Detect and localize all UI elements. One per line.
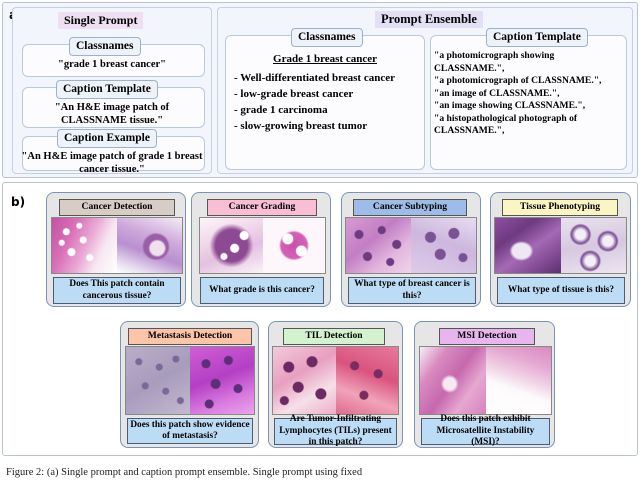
ensemble-classnames-title: Classnames xyxy=(291,28,363,47)
figure-root: a) Single Prompt Classnames "grade 1 bre… xyxy=(0,0,640,482)
task-image-pair-cancer-grading xyxy=(199,217,326,274)
single-caption-template-value: "An H&E image patch of CLASSNAME tissue.… xyxy=(13,101,211,127)
caption-template-item-1: "a photomicrograph of CLASSNAME.", xyxy=(434,75,624,88)
task-badge-cancer-grading: Cancer Grading xyxy=(207,199,317,216)
histology-tile-left xyxy=(273,347,336,414)
task-image-pair-msi-detection xyxy=(419,346,552,415)
task-image-pair-tissue-phenotyping xyxy=(494,217,627,274)
task-badge-til-detection: TIL Detection xyxy=(283,328,385,345)
panel-b: b) Cancer Detection Does This patch cont… xyxy=(2,182,638,456)
single-caption-example-title: Caption Example xyxy=(57,129,157,148)
figure-caption: Figure 2: (a) Single prompt and caption … xyxy=(6,466,634,482)
task-card-tissue-phenotyping[interactable]: Tissue Phenotyping What type of tissue i… xyxy=(490,192,631,307)
caption-template-item-0: "a photomicrograph showing CLASSNAME.", xyxy=(434,50,624,75)
ensemble-caption-template-title: Caption Template xyxy=(486,28,588,47)
single-prompt-container: Single Prompt Classnames "grade 1 breast… xyxy=(12,7,212,174)
classname-item-2: - grade 1 carcinoma xyxy=(234,102,430,118)
task-image-pair-cancer-detection xyxy=(51,217,183,274)
classname-item-1: - low-grade breast cancer xyxy=(234,86,430,102)
histology-tile-right xyxy=(486,347,552,414)
single-caption-template-title: Caption Template xyxy=(56,80,158,99)
ensemble-caption-template-list: "a photomicrograph showing CLASSNAME.", … xyxy=(434,50,624,138)
caption-template-item-2: "an image of CLASSNAME.", xyxy=(434,88,624,101)
histology-tile-left xyxy=(200,218,263,273)
histology-tile-left xyxy=(126,347,190,414)
classname-item-3: - slow-growing breast tumor xyxy=(234,118,430,134)
task-card-msi-detection[interactable]: MSI Detection Does this patch exhibit Mi… xyxy=(414,321,555,448)
histology-tile-left xyxy=(495,218,561,273)
task-badge-cancer-detection: Cancer Detection xyxy=(59,199,175,216)
panel-b-label: b) xyxy=(11,195,25,209)
prompt-ensemble-container: Prompt Ensemble Classnames Grade 1 breas… xyxy=(217,7,633,174)
caption-template-item-3: "an image showing CLASSNAME.", xyxy=(434,100,624,113)
task-image-pair-metastasis-detection xyxy=(125,346,255,415)
histology-tile-left xyxy=(52,218,117,273)
caption-template-item-4: "a histopathological photograph of CLASS… xyxy=(434,113,624,138)
histology-tile-right xyxy=(561,218,627,273)
task-question-msi-detection: Does this patch exhibit Microsatellite I… xyxy=(421,418,550,445)
histology-tile-left xyxy=(346,218,411,273)
prompt-ensemble-title: Prompt Ensemble xyxy=(375,11,483,28)
task-card-til-detection[interactable]: TIL Detection Are Tumor-Infiltrating Lym… xyxy=(268,321,403,448)
ensemble-classnames-heading: Grade 1 breast cancer xyxy=(225,53,425,66)
task-card-cancer-detection[interactable]: Cancer Detection Does This patch contain… xyxy=(46,192,186,307)
histology-tile-left xyxy=(420,347,486,414)
task-question-cancer-detection: Does This patch contain cancerous tissue… xyxy=(53,277,181,304)
task-badge-cancer-subtyping: Cancer Subtyping xyxy=(353,199,467,216)
panel-a: a) Single Prompt Classnames "grade 1 bre… xyxy=(2,2,638,178)
single-classnames-value: "grade 1 breast cancer" xyxy=(13,58,211,71)
task-card-cancer-grading[interactable]: Cancer Grading What grade is this cancer… xyxy=(191,192,331,307)
task-badge-tissue-phenotyping: Tissue Phenotyping xyxy=(502,199,618,216)
task-image-pair-til-detection xyxy=(272,346,399,415)
histology-tile-right xyxy=(411,218,476,273)
single-prompt-title: Single Prompt xyxy=(58,12,143,29)
histology-tile-right xyxy=(263,218,326,273)
task-question-cancer-grading: What grade is this cancer? xyxy=(200,277,324,304)
histology-tile-right xyxy=(117,218,182,273)
single-caption-example-value: "An H&E image patch of grade 1 breast ca… xyxy=(13,150,211,176)
ensemble-classnames-list: - Well-differentiated breast cancer - lo… xyxy=(234,70,430,134)
task-question-cancer-subtyping: What type of breast cancer is this? xyxy=(348,277,476,304)
task-image-pair-cancer-subtyping xyxy=(345,217,477,274)
classname-item-0: - Well-differentiated breast cancer xyxy=(234,70,430,86)
single-classnames-title: Classnames xyxy=(69,37,141,56)
task-badge-msi-detection: MSI Detection xyxy=(439,328,535,345)
task-card-metastasis-detection[interactable]: Metastasis Detection Does this patch sho… xyxy=(120,321,259,448)
histology-tile-right xyxy=(190,347,254,414)
task-question-til-detection: Are Tumor-Infiltrating Lymphocytes (TILs… xyxy=(274,418,397,445)
task-question-tissue-phenotyping: What type of tissue is this? xyxy=(497,277,625,304)
histology-tile-right xyxy=(336,347,399,414)
task-card-cancer-subtyping[interactable]: Cancer Subtyping What type of breast can… xyxy=(341,192,481,307)
task-question-metastasis-detection: Does this patch show evidence of metasta… xyxy=(127,418,253,444)
task-badge-metastasis-detection: Metastasis Detection xyxy=(128,328,252,345)
